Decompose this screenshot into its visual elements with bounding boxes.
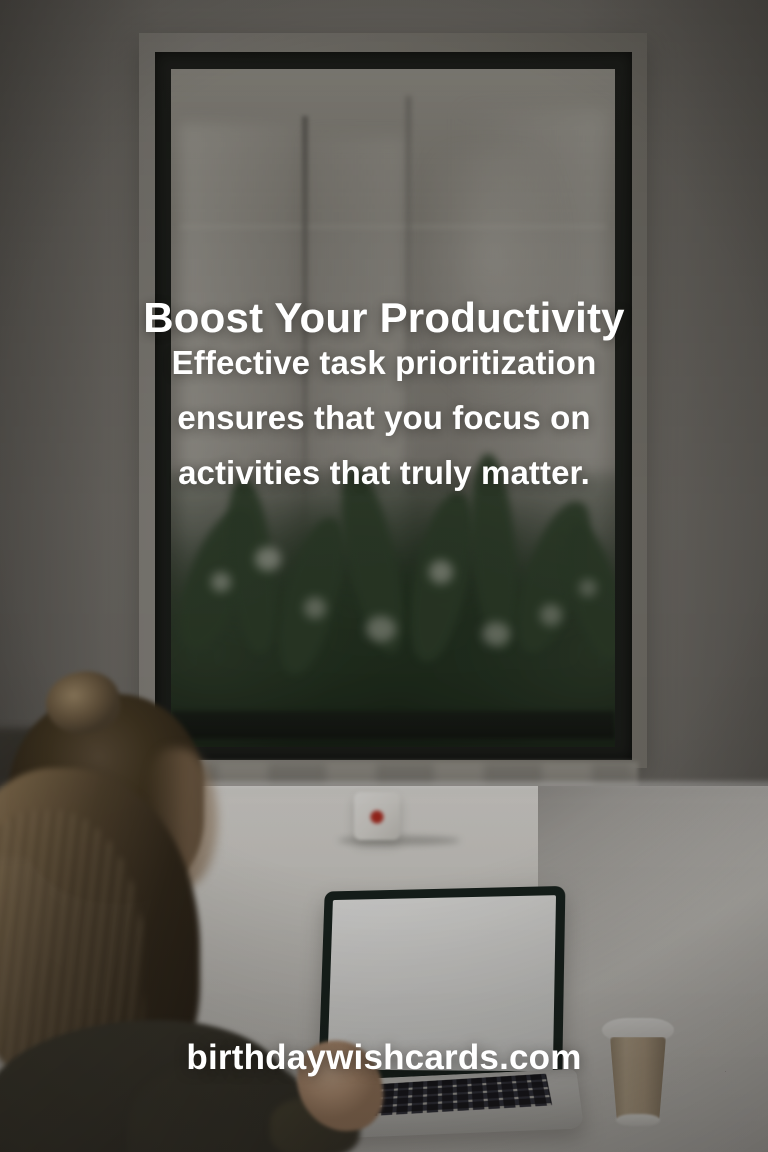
site-watermark[interactable]: birthdaywishcards.com [0, 1038, 768, 1078]
productivity-quote-card: Boost Your Productivity Effective task p… [0, 0, 768, 1152]
headline: Boost Your Productivity [0, 294, 768, 341]
plant-bokeh [579, 579, 597, 597]
plant-bokeh [540, 604, 562, 626]
die-pip-icon [371, 810, 384, 823]
subheadline-line-1: Effective task prioritization [104, 336, 664, 391]
subheadline-line-3: activities that truly matter. [104, 446, 664, 501]
subheadline-line-2: ensures that you focus on [104, 391, 664, 446]
subheadline: Effective task prioritization ensures th… [104, 336, 664, 500]
coffee-cup-base [616, 1114, 660, 1126]
die [354, 792, 400, 840]
background-photo [0, 0, 768, 1152]
plant-bokeh [482, 622, 510, 646]
woman [0, 660, 290, 1152]
plant-bokeh [429, 560, 453, 584]
